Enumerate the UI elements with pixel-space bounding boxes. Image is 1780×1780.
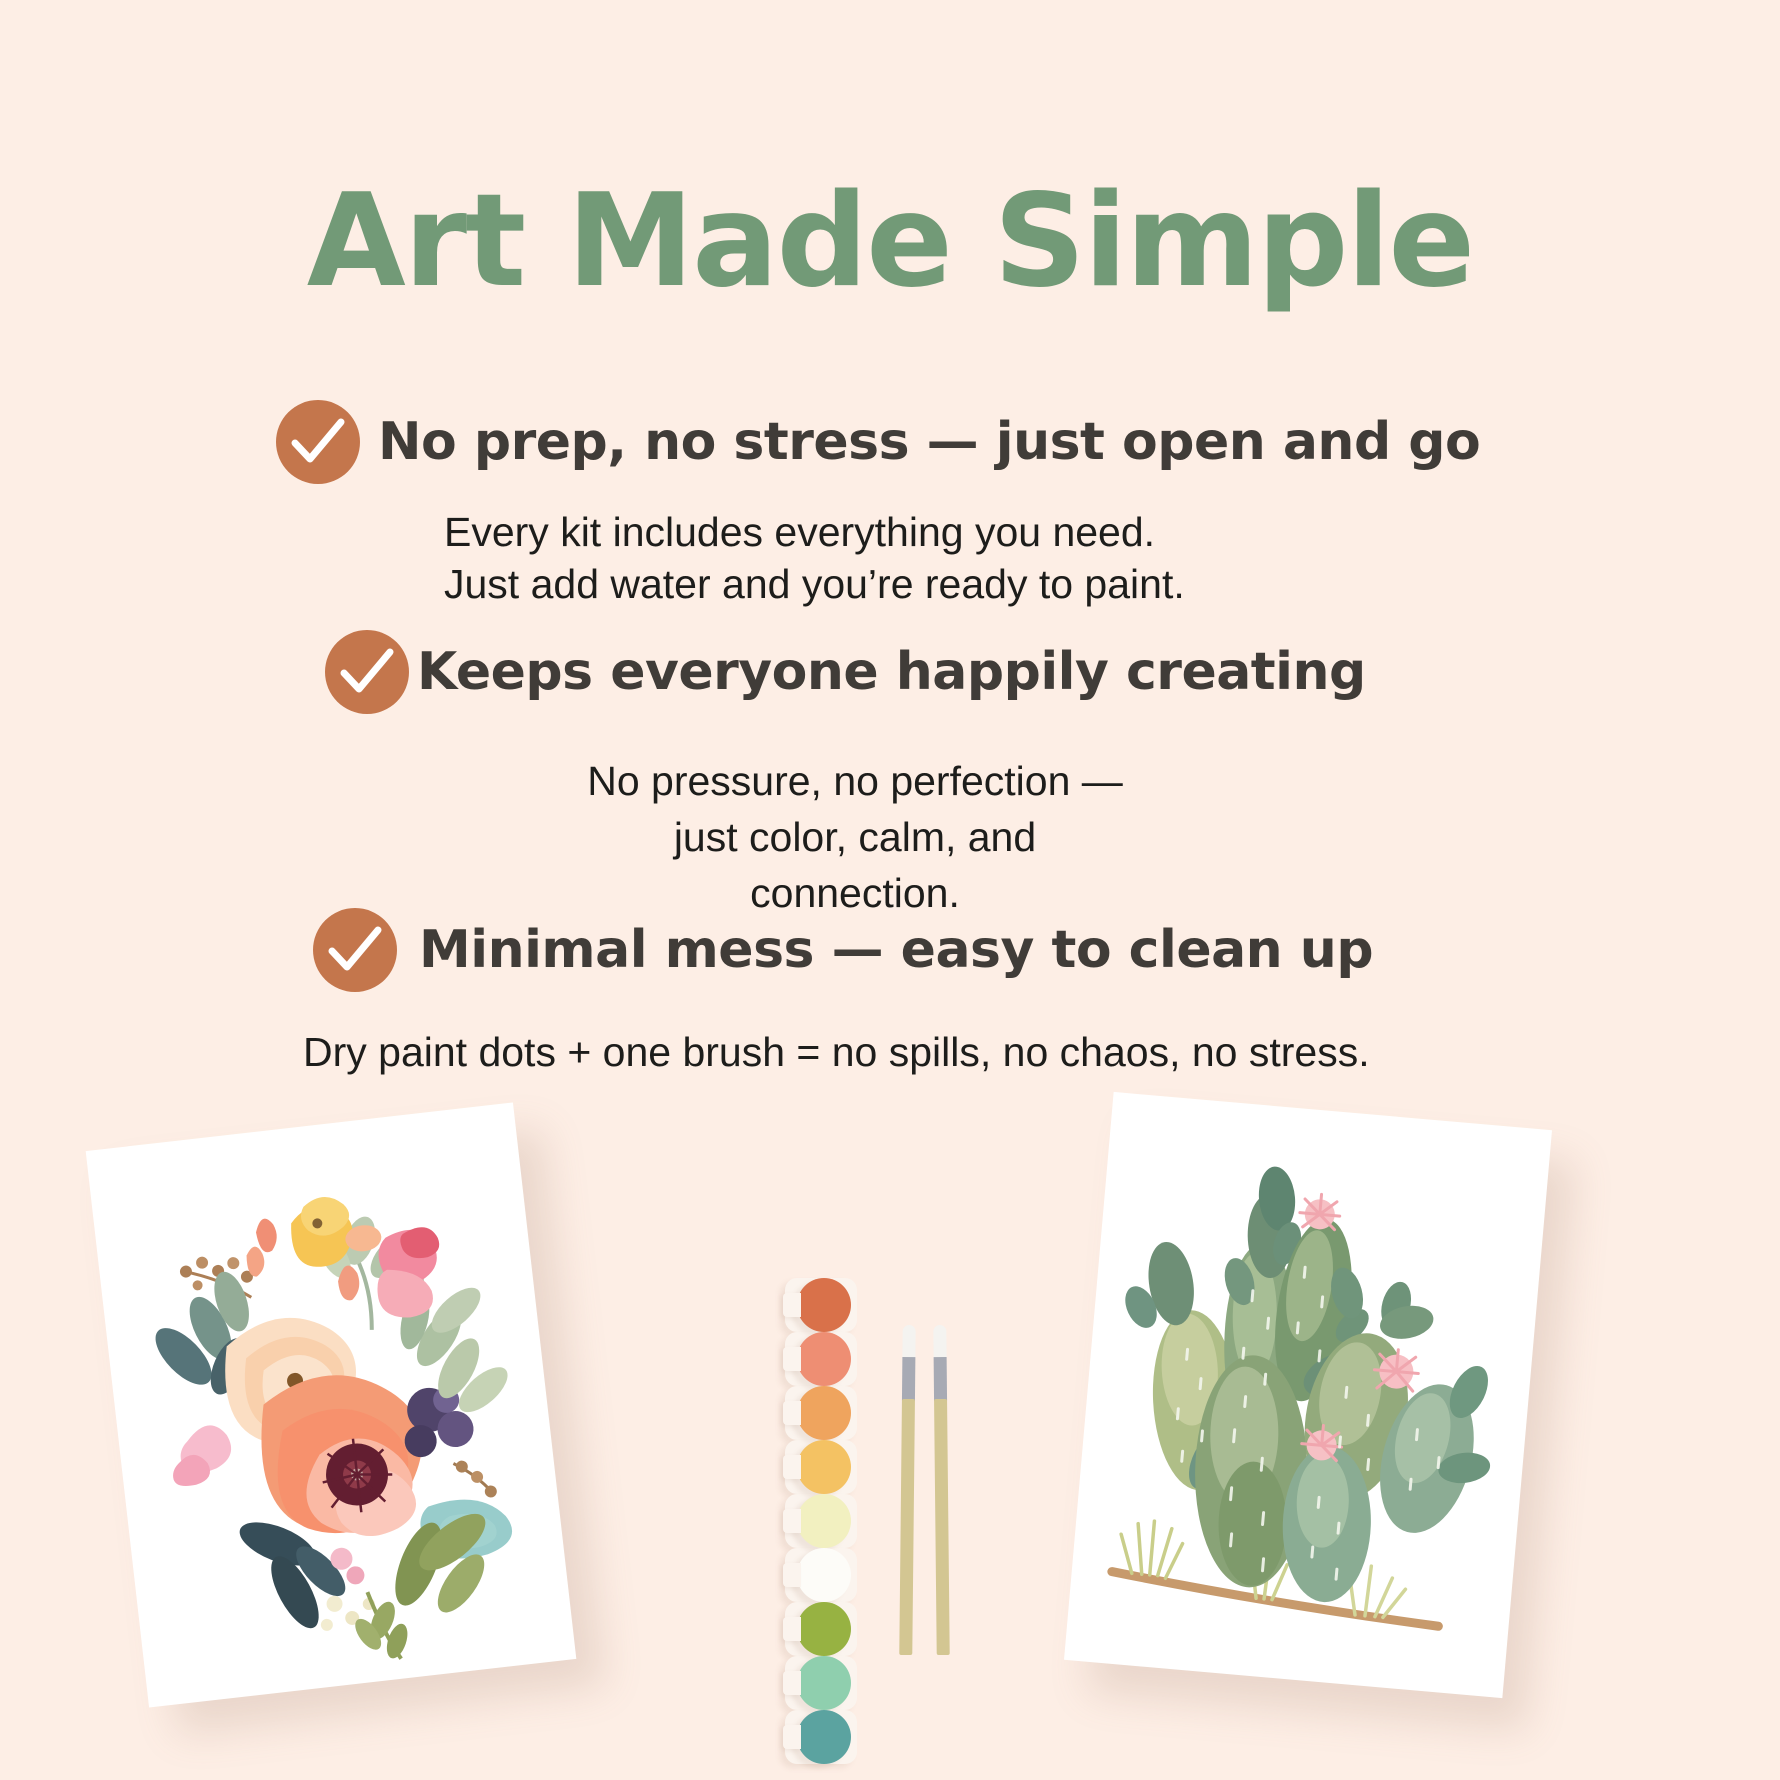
feature-2-body: No pressure, no perfection — just color,… — [505, 754, 1205, 921]
check-icon — [276, 400, 360, 484]
feature-1-body: Every kit includes everything you need. … — [444, 506, 1480, 611]
brush-handle — [934, 1399, 950, 1655]
paint-dot — [785, 1602, 857, 1656]
feature-block-2: Keeps everyone happily creating No press… — [325, 630, 1366, 921]
feature-2-heading: Keeps everyone happily creating — [417, 642, 1366, 702]
feature-block-3: Minimal mess — easy to clean up Dry pain… — [313, 908, 1373, 1078]
brush-handle — [899, 1399, 915, 1655]
check-icon — [313, 908, 397, 992]
brush-bristles — [933, 1325, 946, 1361]
paint-dot — [785, 1548, 857, 1602]
feature-2-heading-row: Keeps everyone happily creating — [325, 630, 1366, 714]
paint-dot — [785, 1710, 857, 1764]
page-title: Art Made Simple — [0, 178, 1780, 306]
poster-canvas: Art Made Simple No prep, no stress — jus… — [0, 0, 1780, 1780]
paint-brush — [933, 1325, 949, 1655]
feature-block-1: No prep, no stress — just open and go Ev… — [276, 400, 1480, 611]
paint-dot — [785, 1332, 857, 1386]
product-photo-stage — [0, 1070, 1780, 1780]
paint-dot — [785, 1494, 857, 1548]
cactus-watercolor-print — [1064, 1092, 1552, 1698]
brush-ferrule — [934, 1357, 947, 1401]
floral-watercolor-print — [86, 1102, 577, 1707]
cactus-artwork — [1064, 1092, 1552, 1698]
paint-dot — [785, 1656, 857, 1710]
paint-dot — [785, 1440, 857, 1494]
brush-bristles — [902, 1325, 915, 1361]
paint-dot — [785, 1278, 857, 1332]
paint-dot — [785, 1386, 857, 1440]
paint-brushes — [893, 1325, 1013, 1665]
paint-brush — [899, 1325, 915, 1655]
floral-artwork — [86, 1102, 577, 1707]
feature-1-heading-row: No prep, no stress — just open and go — [276, 400, 1480, 484]
feature-3-heading-row: Minimal mess — easy to clean up — [313, 908, 1373, 992]
paint-dot-palette — [785, 1278, 857, 1766]
check-icon — [325, 630, 409, 714]
feature-1-heading: No prep, no stress — just open and go — [378, 412, 1480, 472]
brush-ferrule — [902, 1357, 915, 1401]
feature-3-heading: Minimal mess — easy to clean up — [419, 920, 1373, 980]
